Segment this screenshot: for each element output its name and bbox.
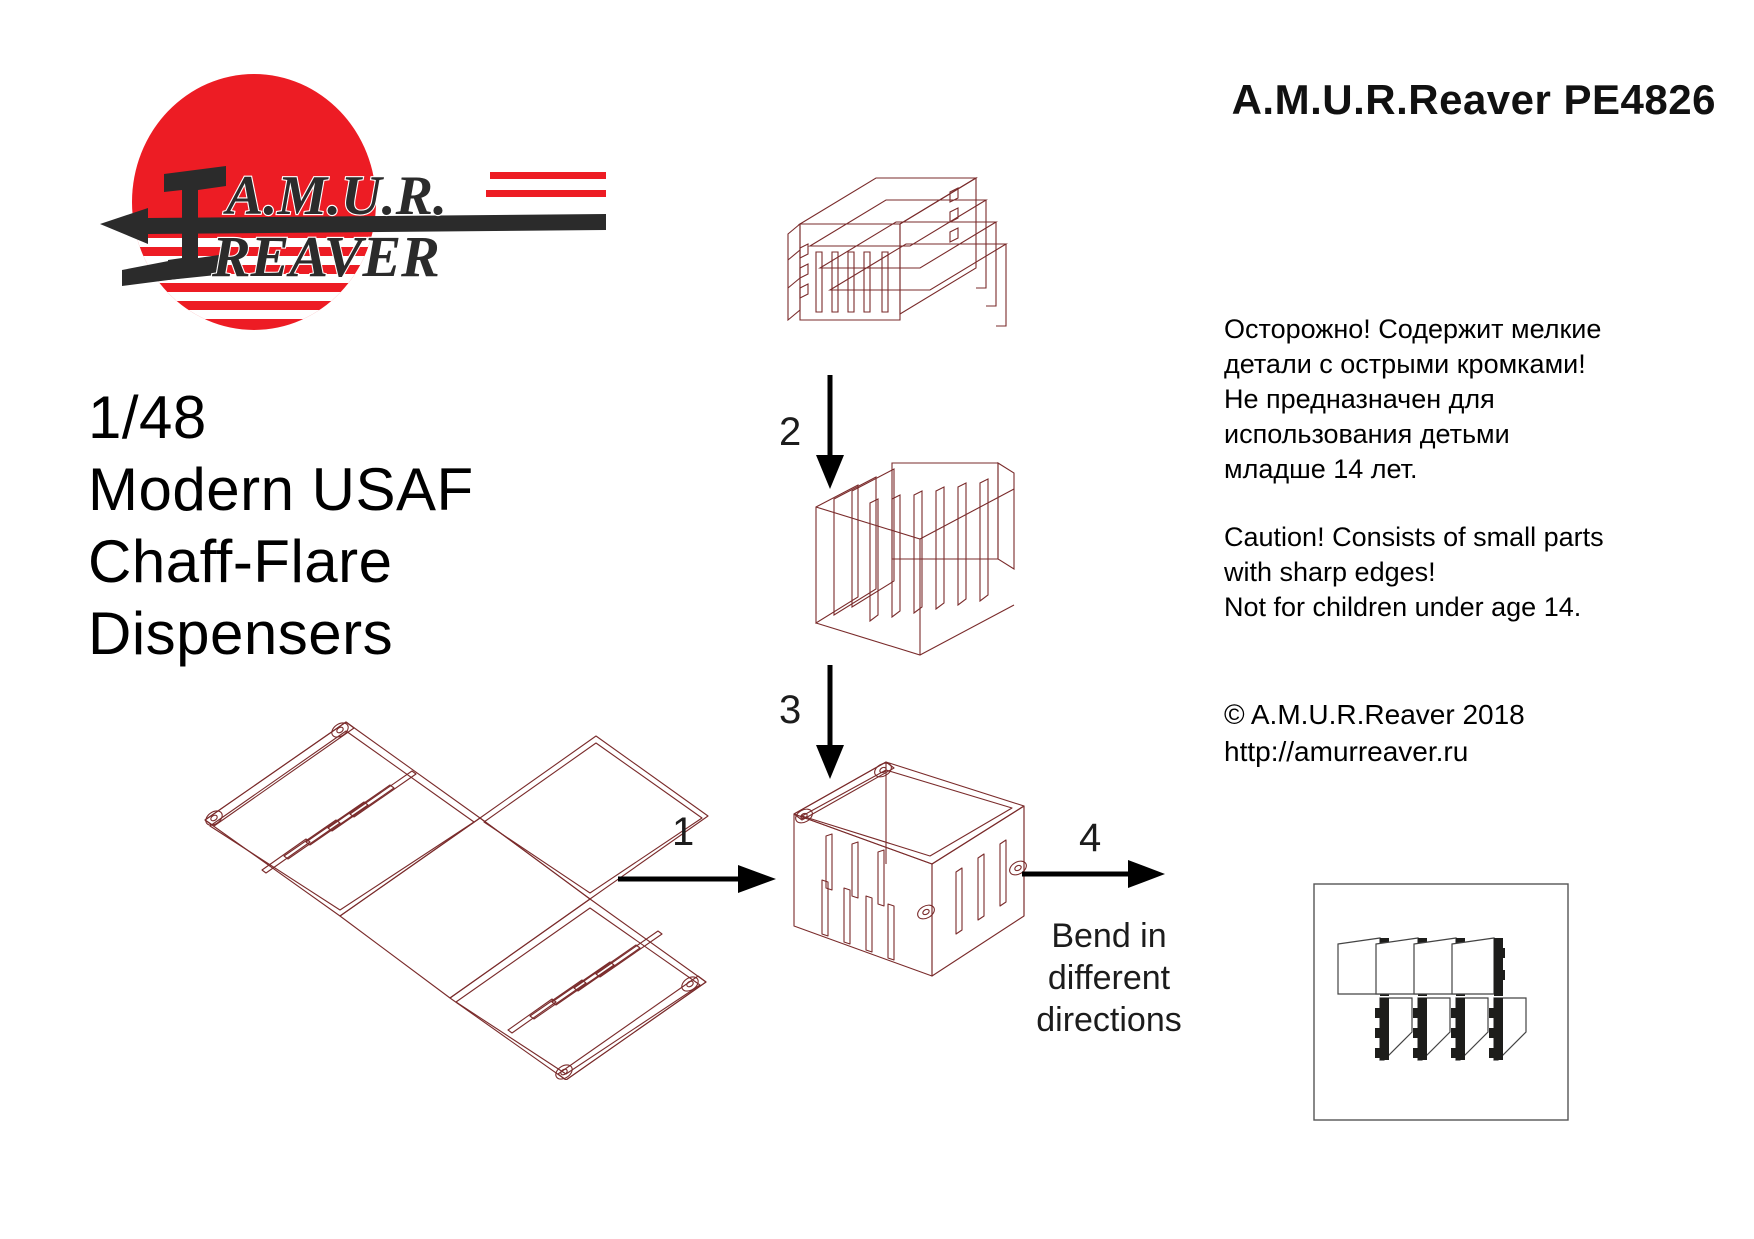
title-line-type: Chaff-Flare — [88, 526, 708, 598]
step-3-arrow-icon — [806, 665, 854, 780]
caution-ru-line-3: Не предназначен для — [1224, 382, 1724, 417]
part-number-heading: A.M.U.R.Reaver PE4826 — [1232, 76, 1716, 124]
caution-en-line-1: Caution! Consists of small parts — [1224, 520, 1724, 555]
figure-bend-detail-inset — [1312, 882, 1570, 1122]
title-line-noun: Dispensers — [88, 598, 708, 670]
amur-reaver-logo: A.M.U.R. REAVER — [86, 62, 606, 352]
exploded-plates-svg — [780, 160, 1060, 380]
step-number-4: 4 — [1079, 818, 1101, 858]
step-2-arrow-icon — [806, 375, 854, 490]
caution-en-line-2: with sharp edges! — [1224, 555, 1724, 590]
copyright-block: © A.M.U.R.Reaver 2018 http://amurreaver.… — [1224, 696, 1724, 770]
step-1-arrow-icon — [618, 855, 778, 903]
bend-label-line-3: directions — [1024, 999, 1194, 1041]
step-number-2: 2 — [779, 412, 801, 452]
bend-label-line-2: different — [1024, 957, 1194, 999]
figure-exploded-plates — [780, 160, 1060, 380]
website-url[interactable]: http://amurreaver.ru — [1224, 733, 1724, 770]
logo-svg: A.M.U.R. REAVER — [86, 62, 606, 352]
caution-ru-line-5: младше 14 лет. — [1224, 452, 1724, 487]
logo-side-stripes — [486, 172, 606, 197]
instruction-sheet: A.M.U.R. REAVER A.M.U.R.Reaver PE4826 1/… — [0, 0, 1754, 1239]
caution-notice: Осторожно! Содержит мелкие детали с остр… — [1224, 312, 1724, 625]
caution-english: Caution! Consists of small parts with sh… — [1224, 520, 1724, 625]
caution-ru-line-1: Осторожно! Содержит мелкие — [1224, 312, 1724, 347]
bend-detail-units — [1338, 938, 1526, 1060]
bend-instruction-label: Bend in different directions — [1024, 915, 1194, 1041]
logo-text-reaver: REAVER — [211, 224, 440, 289]
logo-text-amur: A.M.U.R. — [223, 165, 447, 227]
bend-label-line-1: Bend in — [1024, 915, 1194, 957]
step-number-1: 1 — [672, 812, 694, 852]
copyright-line: © A.M.U.R.Reaver 2018 — [1224, 696, 1724, 733]
title-line-subject: Modern USAF — [88, 454, 708, 526]
caution-ru-line-4: использования детьми — [1224, 417, 1724, 452]
bend-detail-svg — [1312, 882, 1570, 1122]
product-title: 1/48 Modern USAF Chaff-Flare Dispensers — [88, 382, 708, 670]
caution-ru-line-2: детали с острыми кромками! — [1224, 347, 1724, 382]
caution-en-line-3: Not for children under age 14. — [1224, 590, 1724, 625]
step-number-3: 3 — [779, 690, 801, 730]
caution-russian: Осторожно! Содержит мелкие детали с остр… — [1224, 312, 1724, 487]
title-line-scale: 1/48 — [88, 382, 708, 454]
